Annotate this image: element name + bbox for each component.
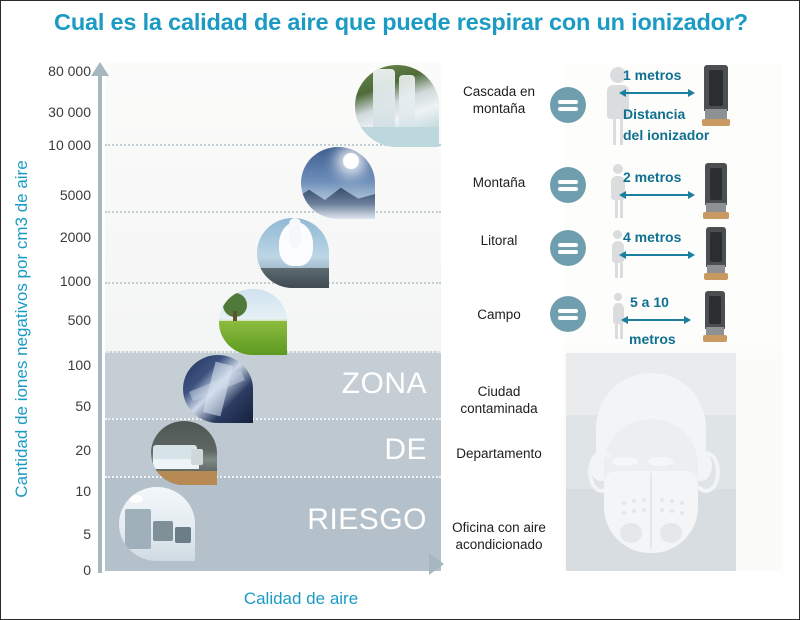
y-tick-10000: 10 000: [5, 137, 91, 153]
distance-arrow-3: [626, 254, 688, 256]
equals-icon-1: [550, 87, 586, 123]
y-tick-80000: 80 000: [5, 63, 91, 79]
category-label-ciudad: Ciudad contaminada: [445, 383, 553, 417]
distance-caption-1a: Distancia: [623, 106, 685, 122]
y-axis-line: [98, 75, 102, 573]
y-tick-500: 500: [5, 312, 91, 328]
distance-arrow-right-icon-4: [684, 316, 691, 324]
distance-arrow-left-icon-3: [619, 251, 626, 259]
distance-arrow-right-icon-1: [688, 89, 695, 97]
distance-arrow-right-icon-3: [688, 251, 695, 259]
distance-arrow-1: [626, 92, 688, 94]
office-photo: [119, 487, 195, 561]
risk-zone-line-1: ZONA: [342, 367, 427, 401]
distance-arrow-left-icon-4: [621, 316, 628, 324]
chart-plot-area: ZONA DE RIESGO: [105, 63, 441, 571]
mountain-photo: [301, 147, 375, 219]
gridline-20: [105, 418, 441, 420]
equals-icon-4: [550, 296, 586, 332]
x-axis-arrow-icon: [429, 553, 444, 575]
waterfall-photo: [355, 65, 439, 147]
distance-caption-1b: del ionizador: [623, 127, 709, 143]
y-tick-30000: 30 000: [5, 104, 91, 120]
y-axis-arrow-icon: [91, 62, 109, 76]
y-tick-2000: 2000: [5, 229, 91, 245]
ionizer-device-1: [701, 65, 731, 127]
masked-face-graphic: [566, 353, 736, 571]
distance-value-1: 1 metros: [623, 67, 681, 83]
y-tick-10: 10: [5, 483, 91, 499]
coast-photo: [257, 218, 329, 288]
distance-value-2: 2 metros: [623, 169, 681, 185]
y-tick-5: 5: [5, 526, 91, 542]
gridline-2000: [105, 211, 441, 213]
distance-arrow-2: [626, 194, 688, 196]
ionizer-device-4: [701, 291, 729, 345]
distance-value-3: 4 metros: [623, 229, 681, 245]
risk-zone-line-3: RIESGO: [307, 503, 427, 537]
city-photo: [183, 355, 253, 423]
category-label-campo: Campo: [445, 306, 553, 323]
category-label-cascada: Cascada en montaña: [445, 83, 553, 117]
y-tick-50: 50: [5, 398, 91, 414]
equals-icon-3: [550, 230, 586, 266]
y-tick-100: 100: [5, 357, 91, 373]
distance-arrow-left-icon-1: [619, 89, 626, 97]
equals-icon-2: [550, 167, 586, 203]
distance-arrow-4: [628, 319, 684, 321]
distance-arrow-right-icon-2: [688, 191, 695, 199]
y-tick-0: 0: [5, 562, 91, 578]
x-axis-label: Calidad de aire: [151, 589, 451, 609]
category-label-departamento: Departamento: [445, 445, 553, 462]
infographic-root: Cual es la calidad de aire que puede res…: [0, 0, 800, 620]
countryside-photo: [219, 289, 287, 355]
distance-value-4: 5 a 10: [630, 294, 669, 310]
ionizer-device-2: [701, 163, 731, 221]
category-label-litoral: Litoral: [445, 232, 553, 249]
distance-caption-4: metros: [629, 331, 676, 347]
face-illustration: [582, 373, 720, 555]
distance-arrow-left-icon-2: [619, 191, 626, 199]
y-axis-ticks: 80 000 30 000 10 000 5000 2000 1000 500 …: [1, 1, 91, 620]
ionizer-device-3: [702, 227, 730, 283]
y-tick-5000: 5000: [5, 187, 91, 203]
y-tick-1000: 1000: [5, 273, 91, 289]
category-label-oficina: Oficina con aire acondicionado: [445, 519, 553, 553]
y-tick-20: 20: [5, 442, 91, 458]
risk-zone-line-2: DE: [384, 433, 427, 467]
page-title: Cual es la calidad de aire que puede res…: [1, 9, 800, 36]
category-label-montana: Montaña: [445, 174, 553, 191]
apartment-photo: [151, 421, 217, 485]
